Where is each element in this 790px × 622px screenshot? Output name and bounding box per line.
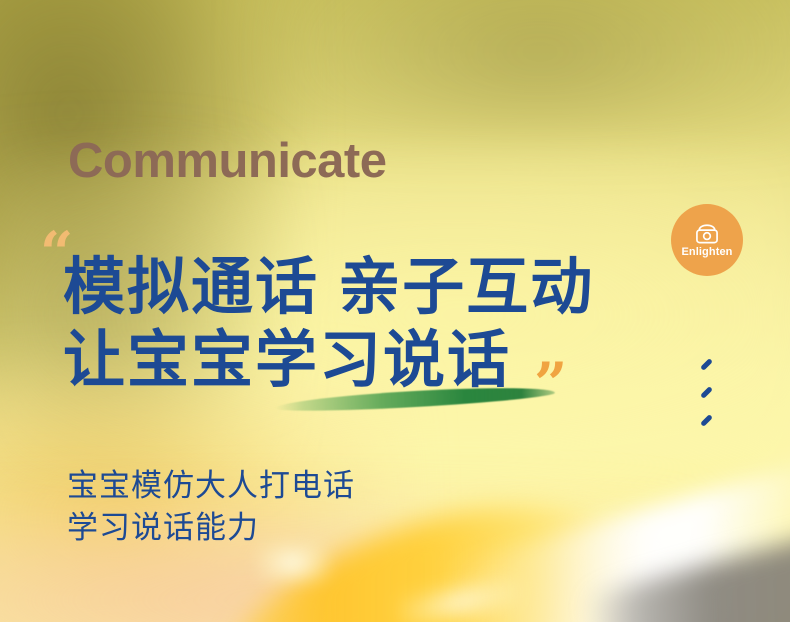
subtext-block: 宝宝模仿大人打电话 学习说话能力 <box>67 465 355 549</box>
headline-line-2: 让宝宝学习说话 <box>63 329 703 392</box>
three-diagonal-dashes-icon <box>700 358 730 438</box>
eyebrow-heading: Communicate <box>68 133 387 189</box>
quote-close-mark: ” <box>534 355 567 413</box>
dash-1 <box>700 358 713 371</box>
subtext-line-2: 学习说话能力 <box>67 507 355 549</box>
headline-block: 模拟通话 亲子互动 让宝宝学习说话 <box>63 256 703 392</box>
badge-label: Enlighten <box>681 247 732 258</box>
product-banner: Communicate “ 模拟通话 亲子互动 让宝宝学习说话 ” 宝宝模仿大人… <box>0 0 790 622</box>
enlighten-badge[interactable]: Enlighten <box>671 204 743 276</box>
banner-content: Communicate “ 模拟通话 亲子互动 让宝宝学习说话 ” 宝宝模仿大人… <box>0 0 790 622</box>
dash-2 <box>700 386 713 399</box>
headline-line-1: 模拟通话 亲子互动 <box>63 256 703 319</box>
dash-3 <box>700 414 713 427</box>
retro-telephone-icon <box>694 223 720 245</box>
subtext-line-1: 宝宝模仿大人打电话 <box>67 465 355 507</box>
